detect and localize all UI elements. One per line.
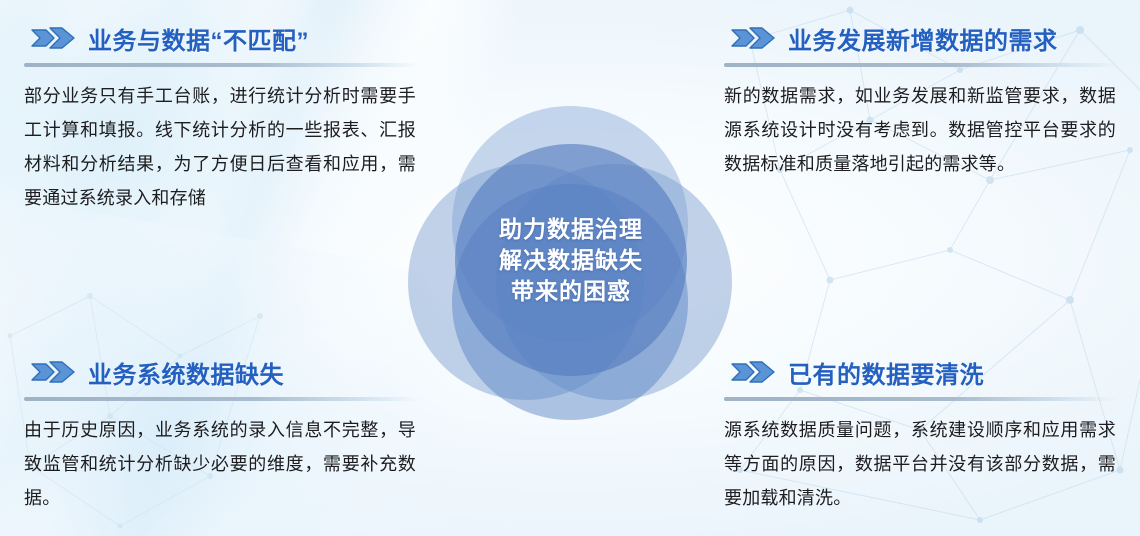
slide-canvas: 助力数据治理 解决数据缺失 带来的困惑 业务与数据“不匹配” 部分业务只有手工台… [0,0,1140,536]
quadrant-body-text: 新的数据需求，如业务发展和新监管要求，数据源系统设计时没有考虑到。数据管控平台要… [724,79,1116,181]
arrow-right-icon [30,359,76,385]
quadrant-header: 业务与数据“不匹配” [24,18,424,58]
quadrant-body-text: 由于历史原因，业务系统的录入信息不完整，导致监管和统计分析缺少必要的维度，需要补… [24,413,416,515]
quadrant-body-text: 部分业务只有手工台账，进行统计分析时需要手工计算和填报。线下统计分析的一些报表、… [24,79,416,215]
arrow-right-icon [730,25,776,51]
quadrant-divider [24,397,419,401]
quadrant-title: 已有的数据要清洗 [788,355,984,390]
arrow-right-icon [30,25,76,51]
quadrant-missing-system-data: 业务系统数据缺失 由于历史原因，业务系统的录入信息不完整，导致监管和统计分析缺少… [24,352,424,515]
quadrant-header: 业务发展新增数据的需求 [724,18,1124,58]
quadrant-new-data-demand: 业务发展新增数据的需求 新的数据需求，如业务发展和新监管要求，数据源系统设计时没… [724,18,1124,181]
quadrant-header: 已有的数据要清洗 [724,352,1124,392]
quadrant-divider [724,63,1119,67]
quadrant-body-text: 源系统数据质量问题，系统建设顺序和应用需求等方面的原因，数据平台并没有该部分数据… [724,413,1116,515]
arrow-right-icon [730,359,776,385]
quadrant-clean-existing-data: 已有的数据要清洗 源系统数据质量问题，系统建设顺序和应用需求等方面的原因，数据平… [724,352,1124,515]
center-text-line-2: 解决数据缺失 [499,245,643,276]
quadrant-title: 业务发展新增数据的需求 [788,21,1058,56]
quadrant-title: 业务与数据“不匹配” [88,21,309,56]
center-text-line-3: 带来的困惑 [511,276,631,307]
quadrant-business-data-mismatch: 业务与数据“不匹配” 部分业务只有手工台账，进行统计分析时需要手工计算和填报。线… [24,18,424,215]
center-core-circle: 助力数据治理 解决数据缺失 带来的困惑 [455,144,687,376]
center-text-line-1: 助力数据治理 [499,214,643,245]
quadrant-title: 业务系统数据缺失 [88,355,284,390]
center-circle-cluster: 助力数据治理 解决数据缺失 带来的困惑 [408,106,732,430]
quadrant-divider [24,63,419,67]
quadrant-divider [724,397,1119,401]
quadrant-header: 业务系统数据缺失 [24,352,424,392]
